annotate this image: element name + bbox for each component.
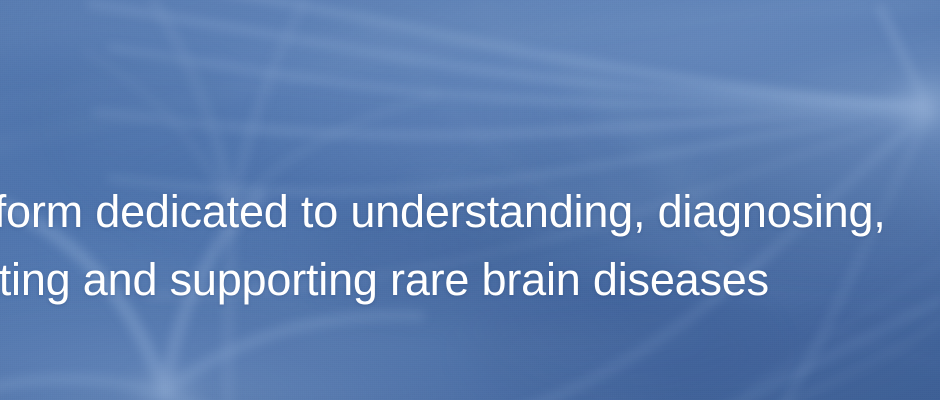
neuron-background-image <box>0 0 940 400</box>
hero-banner: platform dedicated to understanding, dia… <box>0 0 940 400</box>
